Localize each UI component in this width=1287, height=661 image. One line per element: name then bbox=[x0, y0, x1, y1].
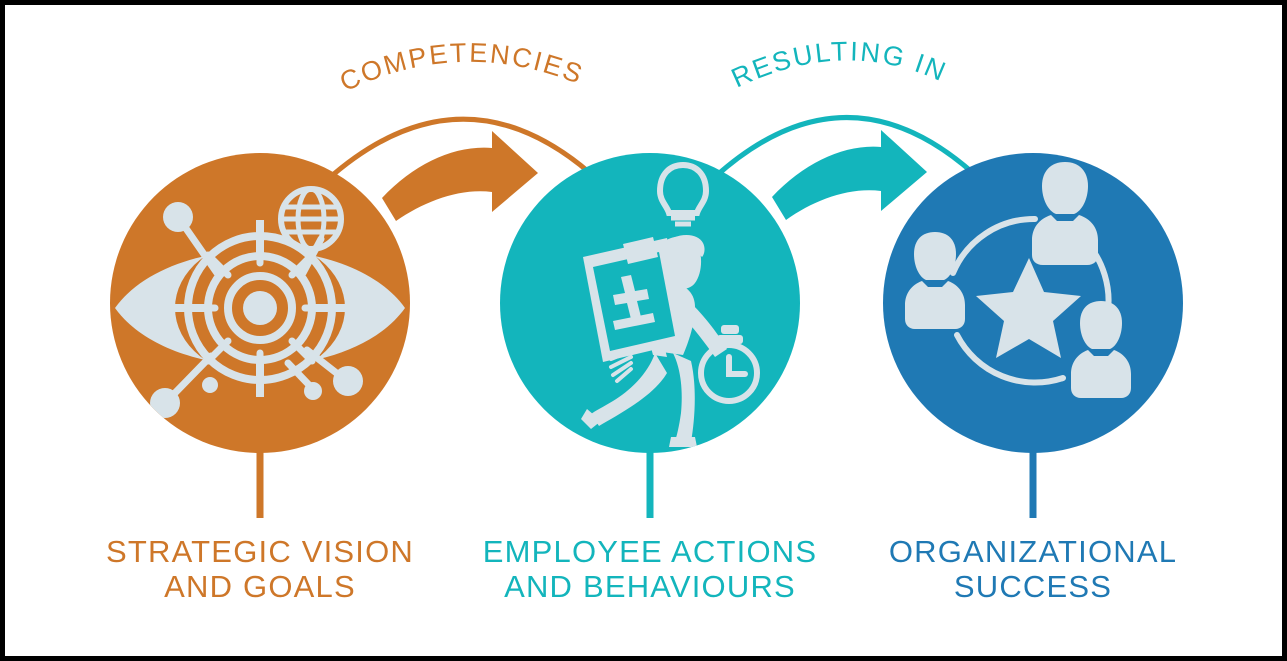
label-line-1: ORGANIZATIONAL bbox=[889, 534, 1177, 569]
node-employee-actions-and-behaviours[interactable] bbox=[500, 153, 800, 453]
target-center-dot bbox=[243, 291, 277, 325]
label-line-2: AND BEHAVIOURS bbox=[504, 569, 796, 604]
label-employee-actions-and-behaviours: EMPLOYEE ACTIONS AND BEHAVIOURS bbox=[483, 534, 817, 604]
label-organizational-success: ORGANIZATIONAL SUCCESS bbox=[889, 534, 1177, 604]
node-strategic-vision-and-goals[interactable] bbox=[110, 153, 410, 453]
label-line-2: SUCCESS bbox=[954, 569, 1112, 604]
connector-2-label: RESULTING IN bbox=[727, 36, 952, 93]
diagram-frame: COMPETENCIES RESULTING IN bbox=[0, 0, 1287, 661]
label-strategic-vision-and-goals: STRATEGIC VISION AND GOALS bbox=[106, 534, 414, 604]
process-flow-diagram: COMPETENCIES RESULTING IN bbox=[5, 5, 1287, 661]
connector-1-label: COMPETENCIES bbox=[335, 38, 588, 98]
label-line-2: AND GOALS bbox=[164, 569, 356, 604]
connector-2-arrow bbox=[772, 130, 927, 220]
label-line-1: STRATEGIC VISION bbox=[106, 534, 414, 569]
label-line-1: EMPLOYEE ACTIONS bbox=[483, 534, 817, 569]
node-organizational-success[interactable] bbox=[883, 153, 1183, 453]
connector-1-arrow bbox=[382, 131, 538, 221]
